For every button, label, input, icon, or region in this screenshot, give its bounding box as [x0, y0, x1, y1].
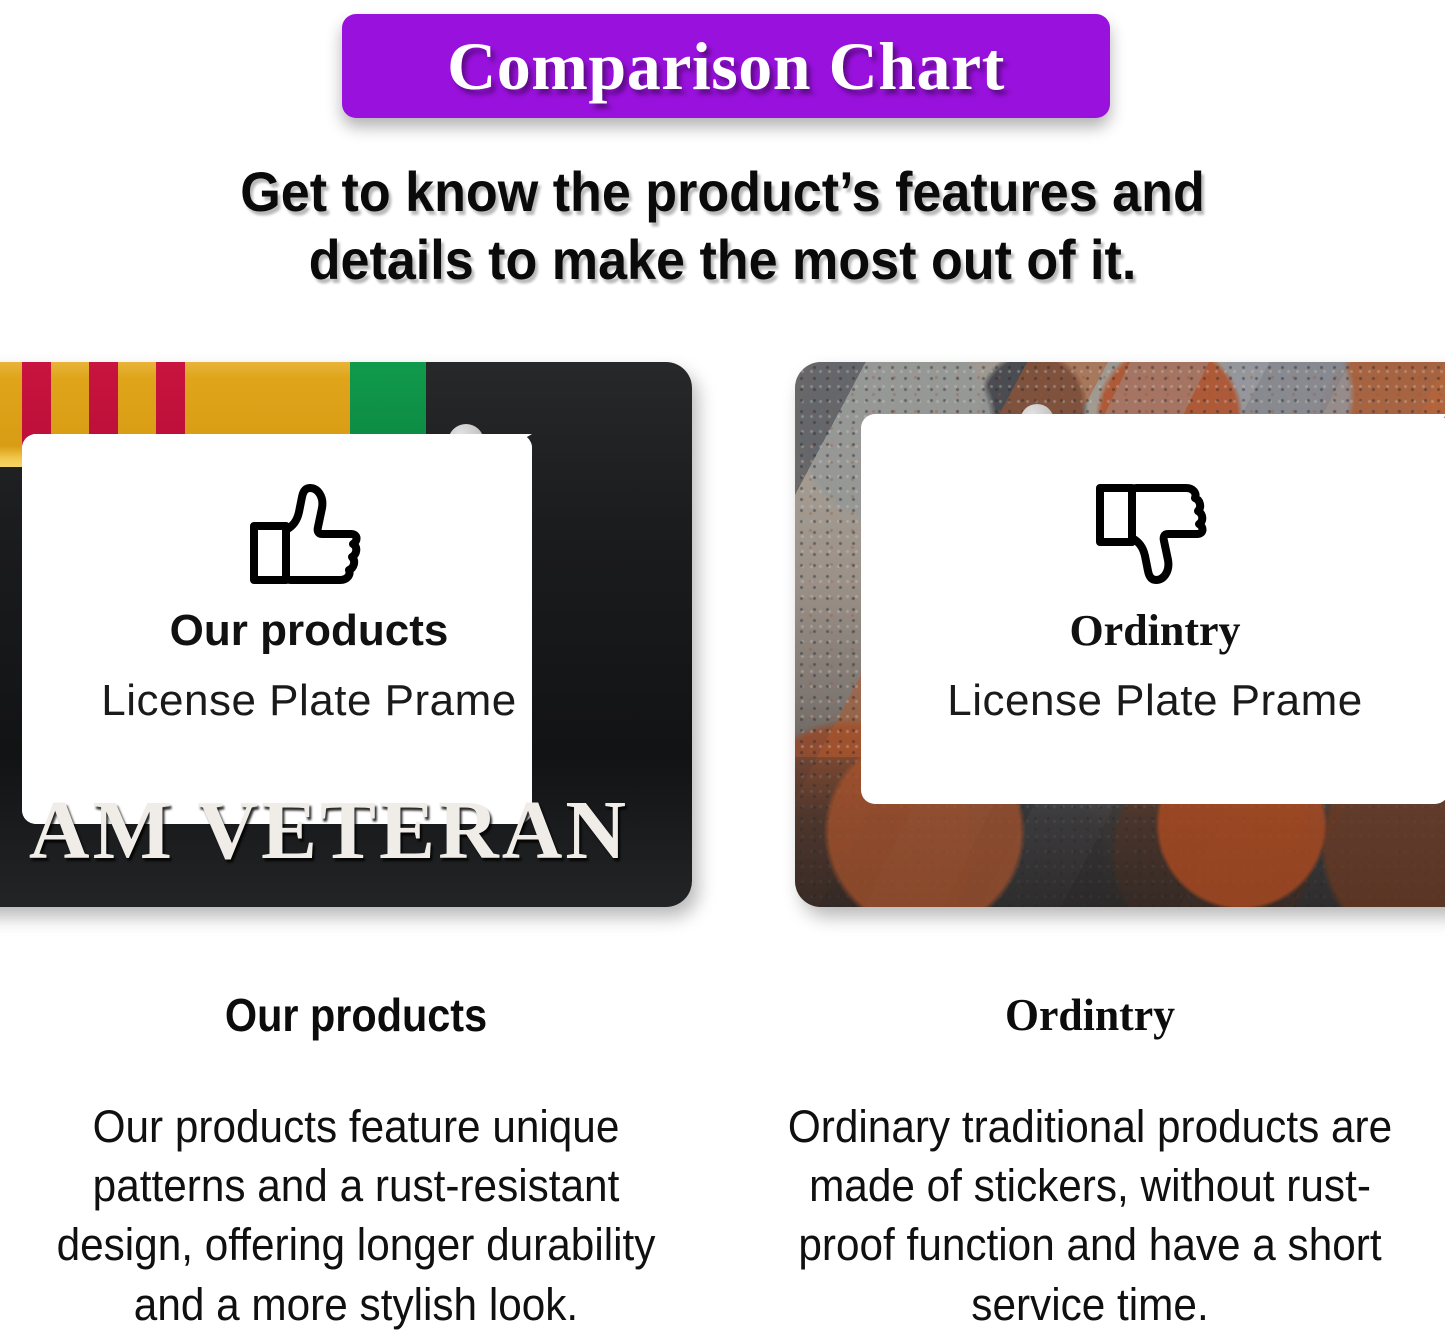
page-title: Comparison Chart: [447, 32, 1005, 100]
ordinary-product-description-heading: Ordintry: [767, 990, 1413, 1041]
our-product-description-body: Our products feature unique patterns and…: [36, 1097, 675, 1334]
ordinary-product-license-plate-frame: Ordintry License Plate Prame: [795, 362, 1445, 907]
plate-bottom-text: AM VETERAN: [0, 789, 692, 873]
plate-window-chamfer: [442, 434, 532, 488]
product-comparison-row: Our products License Plate Prame AM VETE…: [0, 350, 1445, 920]
ordinary-product-sublabel: License Plate Prame: [795, 677, 1445, 725]
thumbs-up-icon: [0, 482, 692, 591]
our-product-description-column: Our products Our products feature unique…: [16, 990, 696, 1334]
our-product-description-heading: Our products: [50, 990, 662, 1041]
ordinary-product-label: Ordintry: [795, 607, 1445, 655]
ordinary-product-description-column: Ordintry Ordinary traditional products a…: [750, 990, 1430, 1334]
plate-window-chamfer: [1359, 414, 1445, 466]
subtitle: Get to know the product’s features and d…: [153, 158, 1292, 295]
our-product-window-content: Our products License Plate Prame: [0, 482, 692, 726]
ordinary-product-window-content: Ordintry License Plate Prame: [795, 482, 1445, 726]
our-product-sublabel: License Plate Prame: [0, 677, 692, 725]
our-product-license-plate-frame: Our products License Plate Prame AM VETE…: [0, 362, 692, 907]
ordinary-product-description-body: Ordinary traditional products are made o…: [770, 1097, 1409, 1334]
subtitle-line-2: details to make the most out of it.: [153, 226, 1292, 294]
comparison-chart-banner: Comparison Chart: [342, 14, 1110, 118]
our-product-label: Our products: [0, 607, 692, 655]
thumbs-down-icon: [795, 482, 1445, 591]
subtitle-line-1: Get to know the product’s features and: [153, 158, 1292, 226]
